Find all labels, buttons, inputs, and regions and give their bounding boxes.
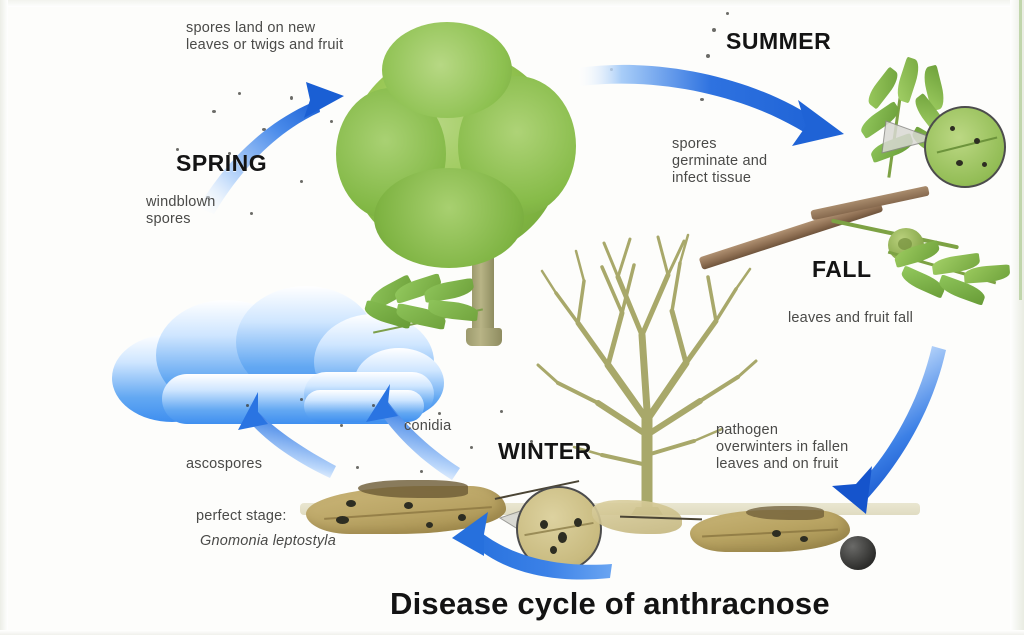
- label-windblown-spores: windblown spores: [146, 194, 296, 228]
- season-fall: FALL: [812, 256, 872, 283]
- season-spring: SPRING: [176, 150, 267, 177]
- label-leaves-fruit-fall: leaves and fruit fall: [788, 310, 988, 327]
- season-summer: SUMMER: [726, 28, 831, 55]
- label-conidia: conidia: [404, 418, 451, 435]
- arrow-summer: [578, 65, 844, 146]
- disease-cycle-diagram: spores land on new leaves or twigs and f…: [0, 0, 1024, 635]
- label-spores-land: spores land on new leaves or twigs and f…: [186, 20, 416, 54]
- label-spores-germinate: spores germinate and infect tissue: [672, 136, 852, 187]
- label-ascospores: ascospores: [186, 456, 262, 473]
- diagram-title: Disease cycle of anthracnose: [390, 586, 830, 622]
- label-pathogen-overwinters: pathogen overwinters in fallen leaves an…: [716, 422, 916, 473]
- arrow-bottom: [452, 512, 612, 579]
- season-winter: WINTER: [498, 438, 592, 465]
- label-perfect-stage: perfect stage:: [196, 508, 287, 525]
- label-pathogen-name: Gnomonia leptostyla: [200, 533, 336, 550]
